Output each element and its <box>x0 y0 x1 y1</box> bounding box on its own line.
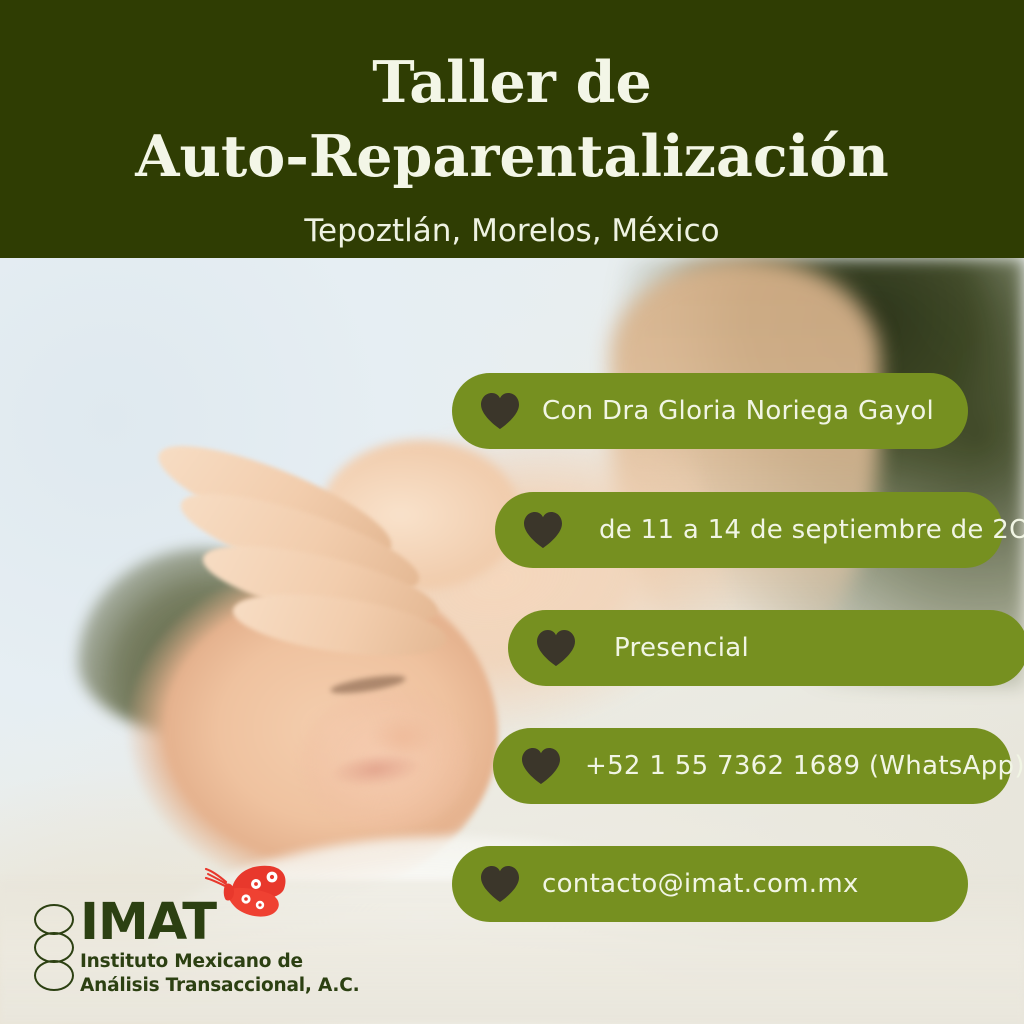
page-title: Taller de Auto-Reparentalización <box>0 46 1024 194</box>
header-banner: Taller de Auto-Reparentalización Tepoztl… <box>0 0 1024 258</box>
detail-pill-email[interactable]: contacto@imat.com.mx <box>452 846 968 922</box>
logo-subtitle: Instituto Mexicano de Análisis Transacci… <box>80 950 359 998</box>
detail-pill-phone[interactable]: +52 1 55 7362 1689 (WhatsApp) <box>493 728 1011 804</box>
page-title-line-2: Auto-Reparentalización <box>0 120 1024 194</box>
heart-icon <box>523 511 563 549</box>
logo-subtitle-line-1: Instituto Mexicano de <box>80 950 359 974</box>
heart-icon <box>480 865 520 903</box>
logo-subtitle-line-2: Análisis Transaccional, A.C. <box>80 974 359 998</box>
three-rings-icon <box>32 904 78 992</box>
detail-pill-label: Con Dra Gloria Noriega Gayol <box>542 396 934 426</box>
detail-pill-dates[interactable]: de 11 a 14 de septiembre de 2O26 <box>495 492 1003 568</box>
page-subtitle: Tepoztlán, Morelos, México <box>0 212 1024 250</box>
butterfly-icon <box>196 862 292 924</box>
detail-pill-label: Presencial <box>614 633 749 663</box>
detail-pill-label: contacto@imat.com.mx <box>542 869 859 899</box>
detail-pill-label: de 11 a 14 de septiembre de 2O26 <box>599 515 1024 545</box>
heart-icon <box>480 392 520 430</box>
page-title-line-1: Taller de <box>0 46 1024 120</box>
poster: Taller de Auto-Reparentalización Tepoztl… <box>0 0 1024 1024</box>
heart-icon <box>536 629 576 667</box>
detail-pill-modality[interactable]: Presencial <box>508 610 1024 686</box>
detail-pill-label: +52 1 55 7362 1689 (WhatsApp) <box>585 751 1024 781</box>
photo-baby-nose <box>372 716 434 754</box>
detail-pill-presenter[interactable]: Con Dra Gloria Noriega Gayol <box>452 373 968 449</box>
heart-icon <box>521 747 561 785</box>
